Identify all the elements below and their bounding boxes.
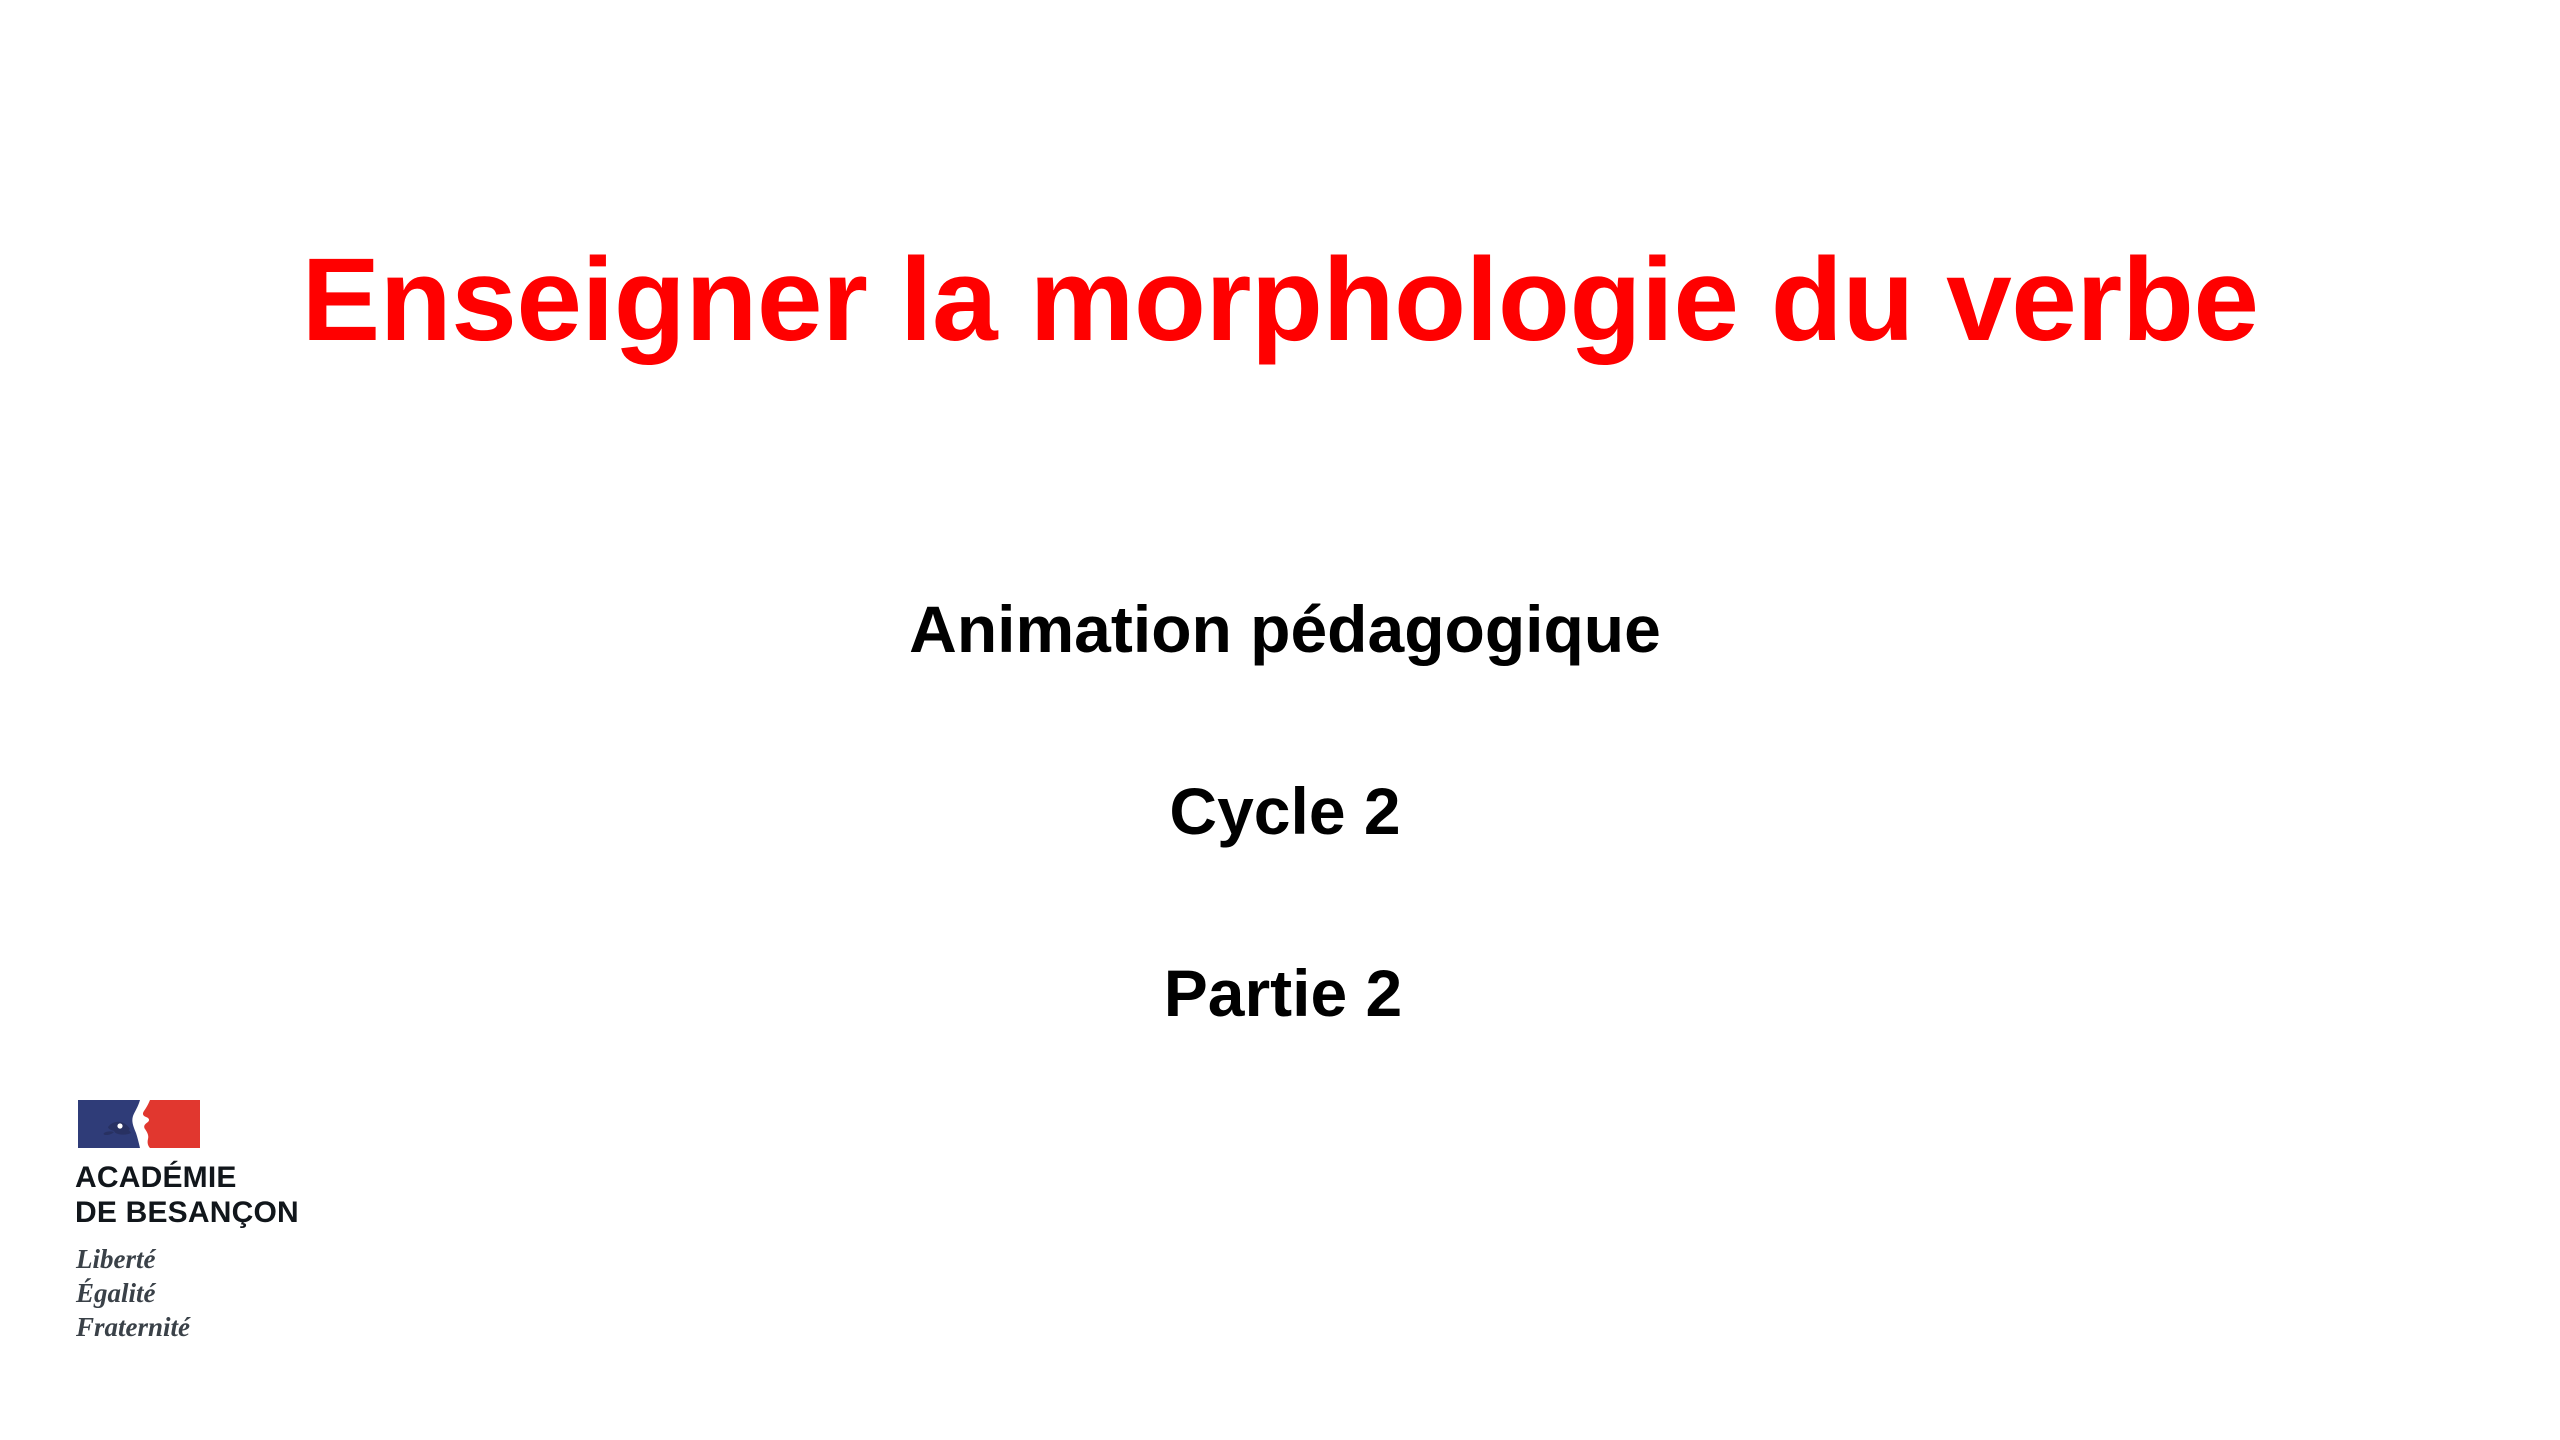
subtitle-block: Animation pédagogique Cycle 2 Partie 2 <box>0 596 2560 1026</box>
slide-canvas: Enseigner la morphologie du verbe Animat… <box>0 0 2560 1440</box>
academy-name: ACADÉMIE DE BESANÇON <box>75 1160 404 1230</box>
academy-name-line-1: ACADÉMIE <box>75 1160 404 1195</box>
subtitle-line-cycle: Cycle 2 <box>10 778 2560 844</box>
academy-logo: ACADÉMIE DE BESANÇON Liberté Égalité Fra… <box>74 1100 404 1344</box>
academy-motto: Liberté Égalité Fraternité <box>76 1242 404 1344</box>
motto-line-fraternite: Fraternité <box>76 1310 404 1344</box>
motto-line-liberte: Liberté <box>76 1242 404 1276</box>
page-title: Enseigner la morphologie du verbe <box>0 238 2560 363</box>
marianne-french-republic-emblem-icon <box>78 1100 200 1148</box>
title-block: Enseigner la morphologie du verbe <box>0 238 2560 363</box>
motto-line-egalite: Égalité <box>76 1276 404 1310</box>
subtitle-line-partie: Partie 2 <box>6 960 2560 1026</box>
academy-name-line-2: DE BESANÇON <box>75 1195 404 1230</box>
subtitle-line-animation-pedagogique: Animation pédagogique <box>10 596 2560 662</box>
